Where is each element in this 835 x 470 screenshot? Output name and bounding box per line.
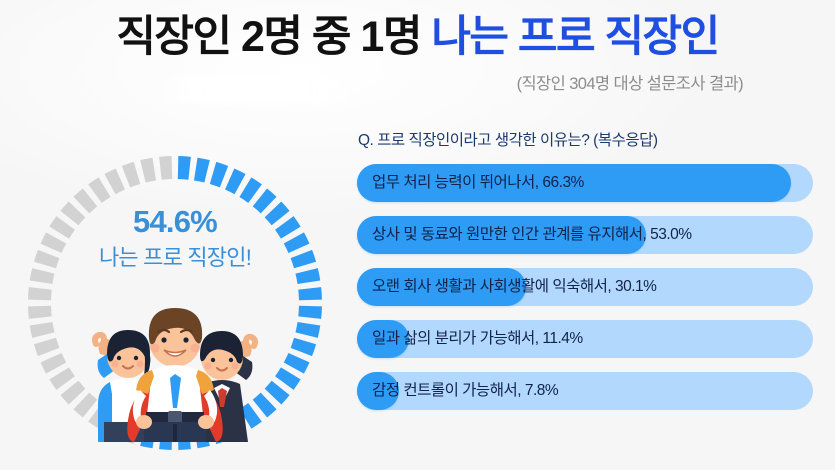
page-title: 직장인 2명 중 1명 나는 프로 직장인: [0, 8, 835, 66]
donut-segment-active: [298, 306, 322, 319]
donut-segment-active: [284, 232, 310, 253]
donut-segment-active: [291, 250, 316, 268]
donut-segment-inactive: [41, 232, 67, 253]
answer-bar-row[interactable]: 오랜 회사 생활과 사회생활에 익숙해서, 30.1%: [352, 268, 822, 306]
donut-segment-active: [225, 169, 246, 195]
answer-bar-row[interactable]: 업무 처리 능력이 뛰어나서, 66.3%: [352, 164, 822, 202]
worker-center-figure: [127, 308, 223, 442]
donut-segment-inactive: [34, 250, 59, 268]
donut-chart: 54.6% 나는 프로 직장인!: [24, 152, 326, 454]
answer-bar-label: 일과 삶의 분리가 가능해서, 11.4%: [372, 320, 583, 358]
donut-segment-inactive: [41, 353, 67, 374]
donut-segment-inactive: [30, 322, 55, 338]
donut-segment-inactive: [140, 158, 156, 183]
bar-chart: 업무 처리 능력이 뛰어나서, 66.3%상사 및 동료와 원만한 인간 관계를…: [352, 164, 822, 410]
donut-segment-active: [178, 156, 191, 180]
survey-subtitle: (직장인 304명 대상 설문조사 결과): [517, 70, 743, 94]
title-highlight-smudge: [150, 76, 365, 104]
donut-segment-active: [275, 216, 301, 238]
donut-segment-active: [291, 338, 316, 356]
donut-segment-inactive: [104, 169, 125, 195]
answer-bar-row[interactable]: 일과 삶의 분리가 가능해서, 11.4%: [352, 320, 822, 358]
donut-segment-inactive: [49, 216, 75, 238]
office-workers-illustration: [70, 282, 280, 442]
donut-segment-active: [239, 177, 261, 203]
page-title-blue: 나는 프로 직장인: [431, 13, 718, 61]
donut-segment-inactive: [30, 268, 55, 284]
donut-segment-active: [295, 322, 320, 338]
donut-segment-active: [210, 162, 228, 187]
donut-segment-active: [284, 353, 310, 374]
donut-segment-inactive: [122, 162, 140, 187]
answer-bar-row[interactable]: 상사 및 동료와 원만한 인간 관계를 유지해서, 53.0%: [352, 216, 822, 254]
page-title-black: 직장인 2명 중 1명: [116, 13, 421, 61]
donut-segment-active: [295, 268, 320, 284]
survey-question: Q. 프로 직장인이라고 생각한 이유는? (복수응답): [358, 128, 822, 150]
header: 직장인 2명 중 1명 나는 프로 직장인 (직장인 304명 대상 설문조사 …: [0, 0, 835, 112]
donut-segment-inactive: [28, 287, 52, 300]
answer-bar-label: 감정 컨트롤이 가능해서, 7.8%: [372, 372, 558, 410]
answers-panel: Q. 프로 직장인이라고 생각한 이유는? (복수응답) 업무 처리 능력이 뛰…: [352, 128, 822, 458]
donut-segment-inactive: [159, 156, 172, 180]
donut-segment-inactive: [88, 177, 110, 203]
answer-bar-label: 오랜 회사 생활과 사회생활에 익숙해서, 30.1%: [372, 268, 656, 306]
answer-bar-row[interactable]: 감정 컨트롤이 가능해서, 7.8%: [352, 372, 822, 410]
donut-segment-active: [298, 287, 322, 300]
answer-bar-label: 상사 및 동료와 원만한 인간 관계를 유지해서, 53.0%: [372, 216, 692, 254]
donut-segment-inactive: [34, 338, 59, 356]
answer-bar-label: 업무 처리 능력이 뛰어나서, 66.3%: [372, 164, 584, 202]
donut-segment-inactive: [28, 306, 52, 319]
donut-segment-active: [194, 158, 210, 183]
infographic-root: 직장인 2명 중 1명 나는 프로 직장인 (직장인 304명 대상 설문조사 …: [0, 0, 835, 470]
